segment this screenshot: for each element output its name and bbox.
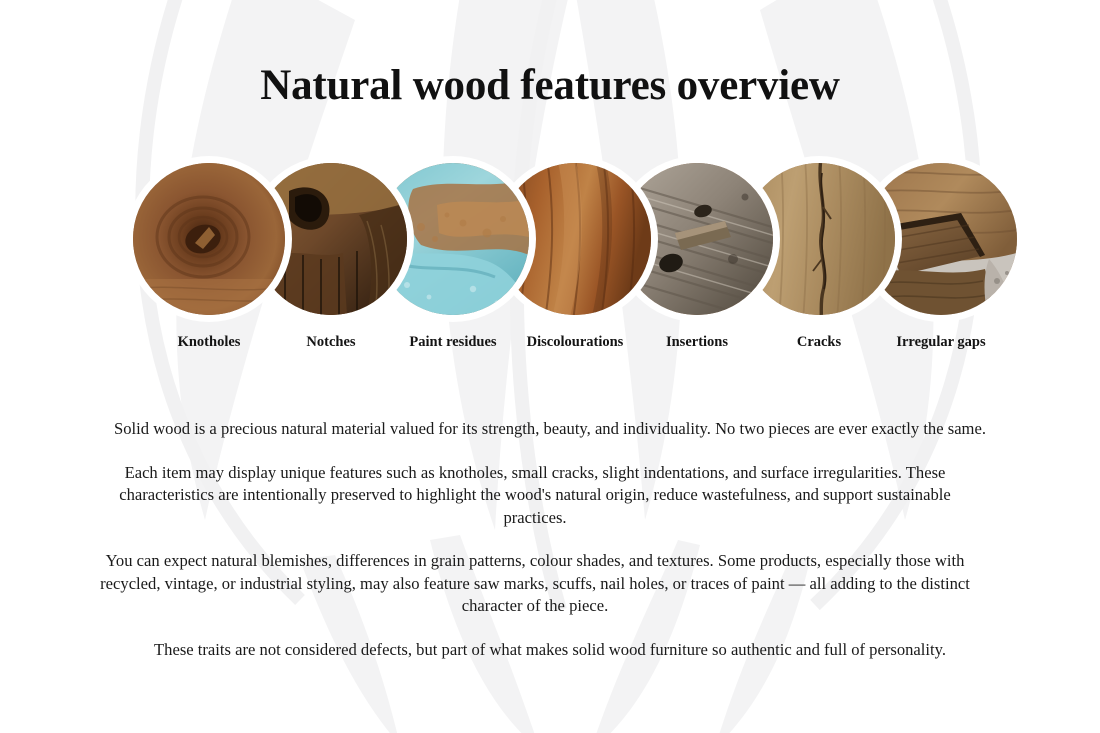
wood-knothole-photo <box>133 163 285 315</box>
paragraph-3: You can expect natural blemishes, differ… <box>95 550 975 618</box>
paragraph-1: Solid wood is a precious natural materia… <box>95 418 1005 441</box>
feature-label: Knotholes <box>83 333 335 351</box>
feature-circles-strip: Knotholes <box>0 163 1100 363</box>
paragraph-4: These traits are not considered defects,… <box>95 639 1005 662</box>
paragraph-2: Each item may display unique features su… <box>95 462 975 530</box>
poster-page: Natural wood features overview <box>0 0 1100 733</box>
body-copy: Solid wood is a precious natural materia… <box>95 418 1005 661</box>
page-title: Natural wood features overview <box>0 62 1100 110</box>
